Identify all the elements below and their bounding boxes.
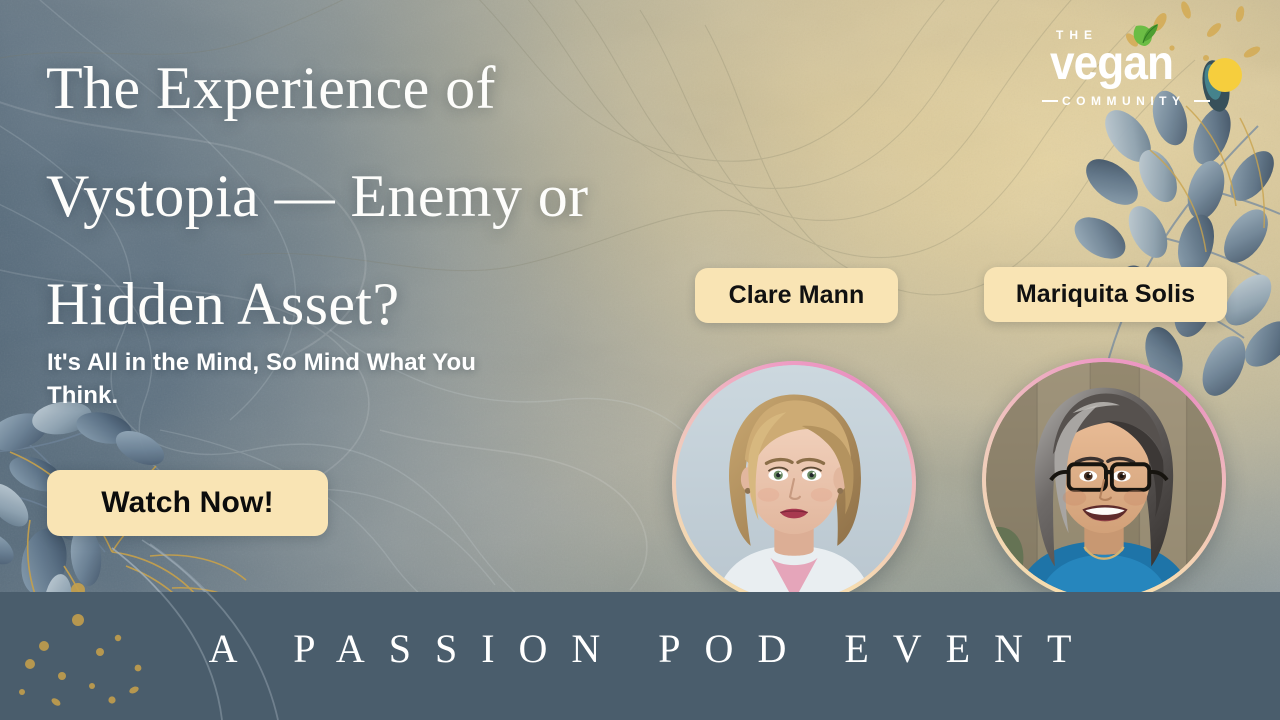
speaker-name-badge-mariquita-solis: Mariquita Solis (984, 267, 1227, 322)
yellow-circle-icon (1208, 58, 1242, 92)
logo-dash-right (1194, 100, 1210, 102)
speaker-avatar-clare-mann (672, 361, 916, 605)
avatar (676, 365, 912, 601)
vegan-community-logo: THE vegan COMMUNITY (1042, 26, 1210, 114)
speaker-avatar-mariquita-solis (982, 358, 1226, 602)
page-title: The Experience of Vystopia — Enemy or Hi… (46, 34, 686, 358)
leaf-icon (1130, 22, 1160, 48)
logo-community-text: COMMUNITY (1062, 94, 1186, 108)
watch-now-button[interactable]: Watch Now! (47, 470, 328, 536)
title-line-1: The Experience of (46, 34, 686, 142)
speaker-name-badge-clare-mann: Clare Mann (695, 268, 898, 323)
avatar (986, 362, 1222, 598)
promo-slide: The Experience of Vystopia — Enemy or Hi… (0, 0, 1280, 720)
event-banner-text: A PASSION POD EVENT (0, 625, 1280, 672)
title-line-3: Hidden Asset? (46, 250, 686, 358)
subtitle: It's All in the Mind, So Mind What You T… (47, 346, 527, 412)
logo-dash-left (1042, 100, 1058, 102)
title-line-2: Vystopia — Enemy or (46, 142, 686, 250)
